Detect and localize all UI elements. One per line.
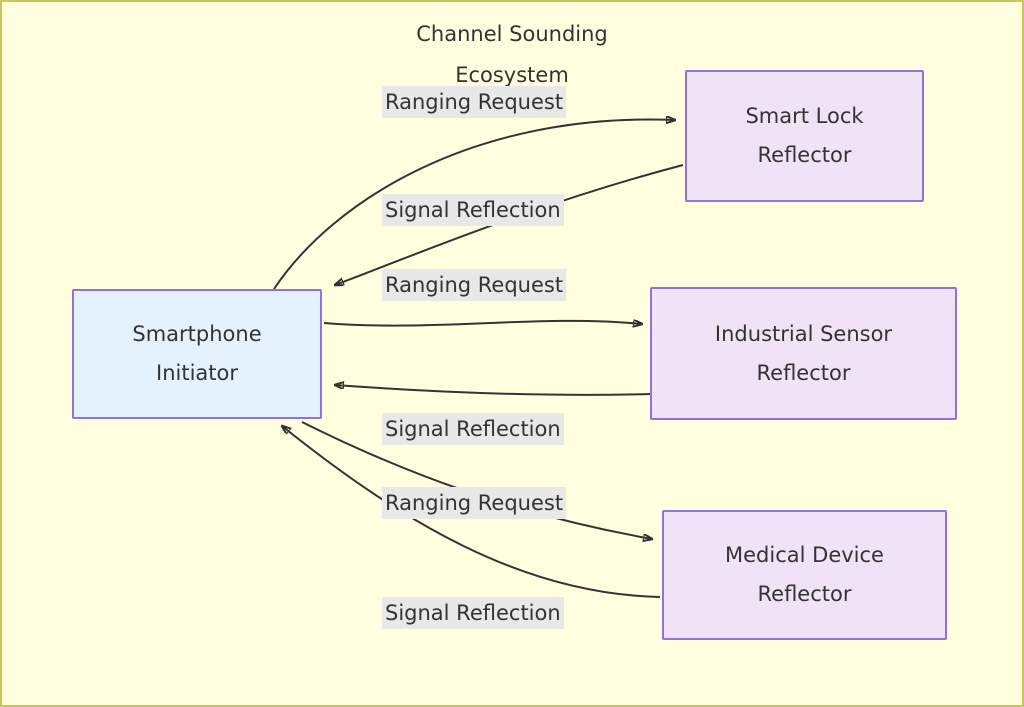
edge-label-medical-request: Ranging Request bbox=[382, 487, 566, 519]
node-label-line2: Reflector bbox=[758, 136, 852, 175]
edge-label-sensor-reflect: Signal Reflection bbox=[382, 413, 564, 445]
node-label-line1: Smartphone bbox=[132, 315, 261, 354]
node-label-line2: Reflector bbox=[758, 575, 852, 614]
node-label-line2: Reflector bbox=[757, 354, 851, 393]
edge-sensor-reflect bbox=[335, 385, 650, 395]
node-label-line1: Smart Lock bbox=[745, 97, 863, 136]
node-smartphone-initiator[interactable]: Smartphone Initiator bbox=[72, 289, 322, 419]
node-industrial-sensor-reflector[interactable]: Industrial Sensor Reflector bbox=[650, 287, 957, 420]
edge-label-medical-reflect: Signal Reflection bbox=[382, 597, 564, 629]
node-medical-device-reflector[interactable]: Medical Device Reflector bbox=[662, 510, 947, 640]
edge-sensor-request bbox=[324, 321, 642, 326]
node-label-line1: Industrial Sensor bbox=[715, 315, 892, 354]
node-label-line1: Medical Device bbox=[725, 536, 884, 575]
diagram-canvas: Channel Sounding Ecosystem Smartphone In… bbox=[0, 0, 1024, 707]
node-smart-lock-reflector[interactable]: Smart Lock Reflector bbox=[685, 70, 924, 202]
node-label-line2: Initiator bbox=[156, 354, 238, 393]
edge-label-smartlock-request: Ranging Request bbox=[382, 86, 566, 118]
edge-label-sensor-request: Ranging Request bbox=[382, 269, 566, 301]
edge-label-smartlock-reflect: Signal Reflection bbox=[382, 194, 564, 226]
